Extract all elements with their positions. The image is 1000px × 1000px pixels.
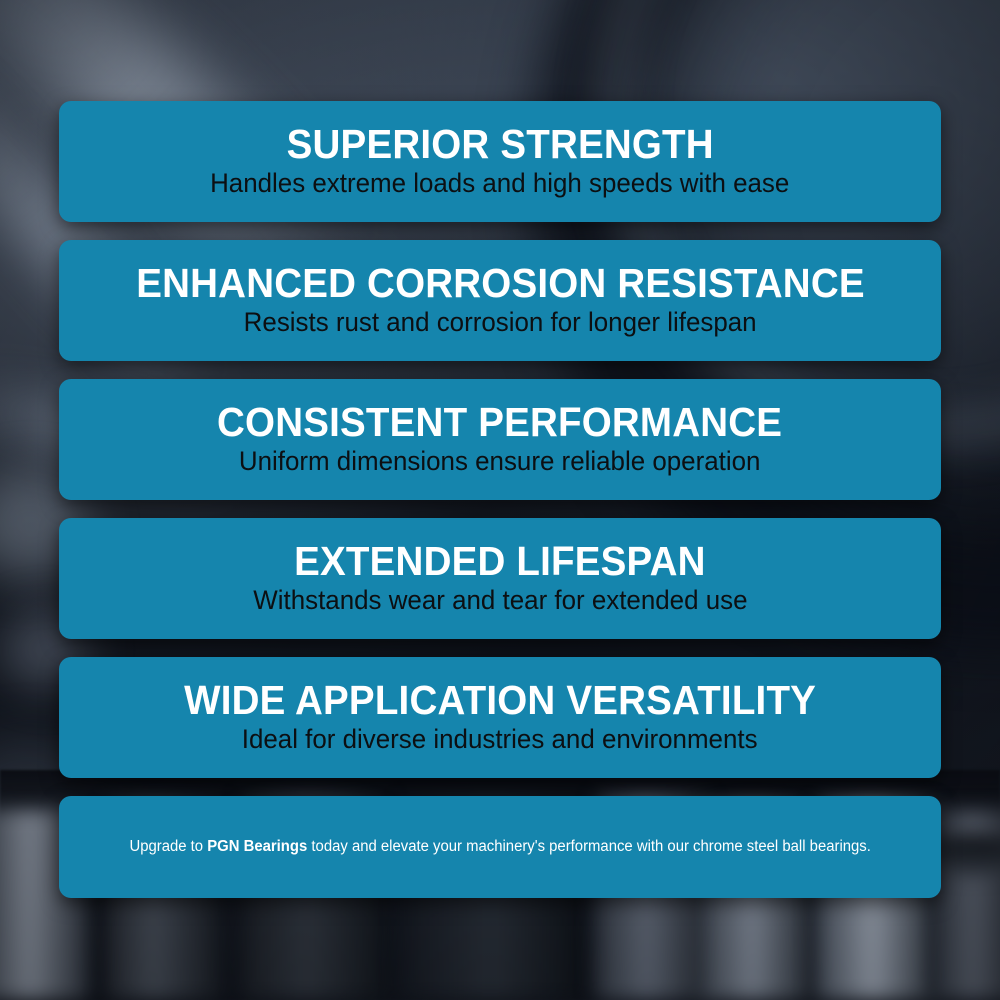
feature-card-title: EXTENDED LIFESPAN <box>294 541 705 583</box>
feature-card-subtitle: Handles extreme loads and high speeds wi… <box>210 168 789 199</box>
feature-card[interactable]: CONSISTENT PERFORMANCE Uniform dimension… <box>59 379 941 500</box>
call-to-action-card[interactable]: Upgrade to PGN Bearings today and elevat… <box>59 796 941 898</box>
cta-brand-name: PGN Bearings <box>207 838 307 855</box>
feature-card-subtitle: Withstands wear and tear for extended us… <box>253 585 747 616</box>
feature-card-title: WIDE APPLICATION VERSATILITY <box>184 680 816 722</box>
feature-card-subtitle: Resists rust and corrosion for longer li… <box>244 307 757 338</box>
feature-card[interactable]: EXTENDED LIFESPAN Withstands wear and te… <box>59 518 941 639</box>
call-to-action-text: Upgrade to PGN Bearings today and elevat… <box>102 838 897 857</box>
feature-card-subtitle: Uniform dimensions ensure reliable opera… <box>239 446 761 477</box>
cta-tail-text: today and elevate your machinery's perfo… <box>307 838 871 855</box>
feature-card[interactable]: ENHANCED CORROSION RESISTANCE Resists ru… <box>59 240 941 361</box>
feature-card-title: ENHANCED CORROSION RESISTANCE <box>136 263 865 305</box>
feature-card-title: SUPERIOR STRENGTH <box>286 124 713 166</box>
marketing-poster: SUPERIOR STRENGTH Handles extreme loads … <box>0 0 1000 1000</box>
cta-lead-text: Upgrade to <box>129 838 207 855</box>
feature-card[interactable]: WIDE APPLICATION VERSATILITY Ideal for d… <box>59 657 941 778</box>
feature-card-list: SUPERIOR STRENGTH Handles extreme loads … <box>59 101 941 898</box>
feature-card-subtitle: Ideal for diverse industries and environ… <box>242 724 758 755</box>
feature-card-title: CONSISTENT PERFORMANCE <box>217 402 782 444</box>
feature-card[interactable]: SUPERIOR STRENGTH Handles extreme loads … <box>59 101 941 222</box>
